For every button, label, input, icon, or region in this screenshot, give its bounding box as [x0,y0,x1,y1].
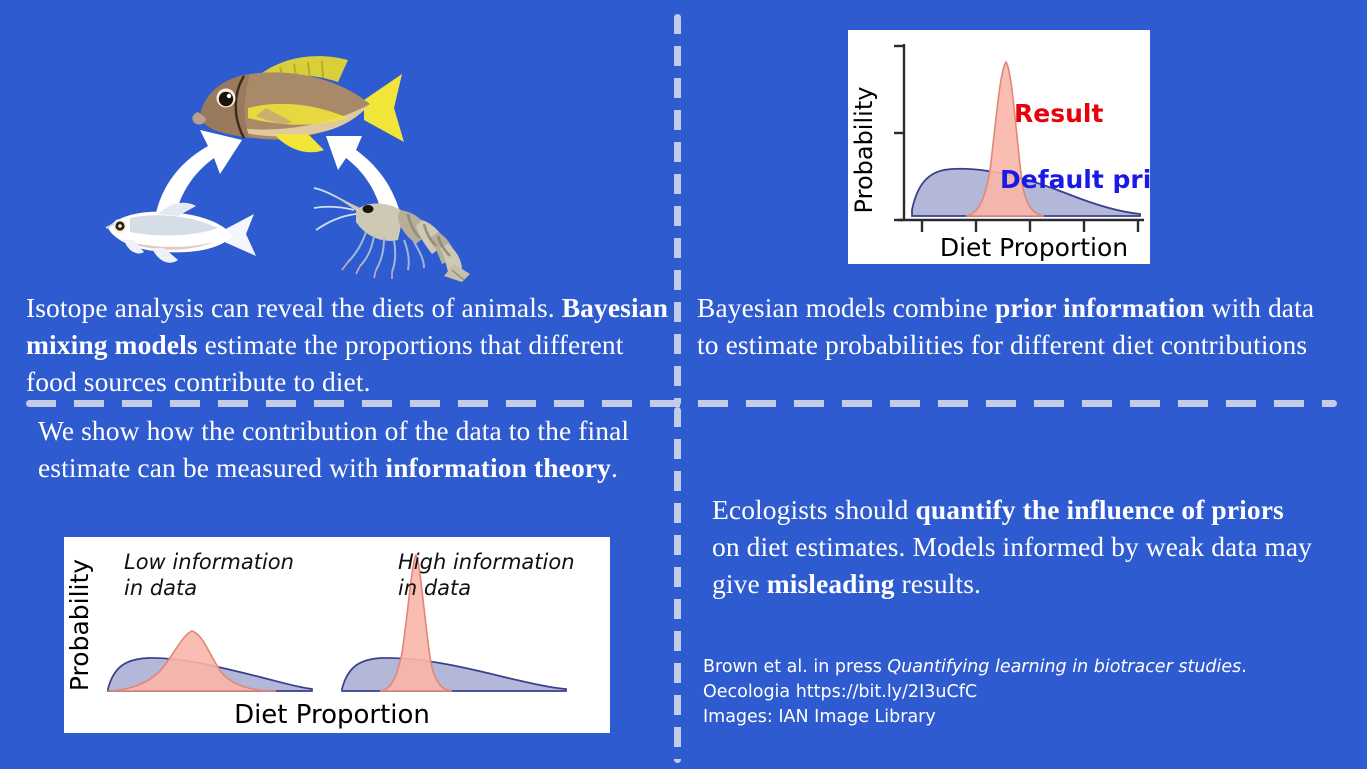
graphical-abstract: Probability Result [0,0,1367,769]
chart-y-axis-label: Probability [850,87,878,214]
chart-annotation-high-information: High information [398,550,575,574]
chart-annotation-result: Result [1014,99,1103,128]
citation-authors: Brown et al. in press [703,657,887,677]
citation-block: Brown et al. in press Quantifying learni… [703,655,1303,730]
chart-annotation-low-information: Low information [124,550,294,574]
text-run: Ecologists should [712,494,915,525]
text-run-bold: misleading [767,568,895,599]
chart-x-axis-label: Diet Proportion [234,700,430,730]
prawn-illustration [312,178,472,283]
text-run-bold: prior information [995,292,1205,323]
divider-horizontal [26,400,1337,407]
panel-text-bottom-left: We show how the contribution of the data… [38,412,673,486]
snapper-fish-illustration [188,38,418,173]
citation-images-credit: Images: IAN Image Library [703,707,936,727]
series-prior-high-info [342,658,566,691]
chart-y-axis-label: Probability [65,559,94,691]
chart-annotation-default-prior: Default prior [1000,165,1150,194]
panel-text-bottom-right: Ecologists should quantify the influence… [712,491,1312,602]
panel-text-top-left: Isotope analysis can reveal the diets of… [26,289,676,400]
text-run: Isotope analysis can reveal the diets of… [26,292,562,323]
chart-prior-vs-result: Probability Result [848,30,1150,264]
panel-text-top-right: Bayesian models combine prior informatio… [697,289,1337,363]
chart-x-axis-label: Diet Proportion [940,233,1128,262]
baitfish-illustration [100,196,260,276]
text-run: . [611,452,618,483]
chart-annotation-low-information-2: in data [124,576,197,600]
citation-title: Quantifying learning in biotracer studie… [887,657,1241,677]
divider-vertical-bottom [674,407,681,763]
text-run: results. [895,568,981,599]
chart-low-vs-high-information: Probability Low information in data High… [64,537,610,733]
chart-annotation-high-information-2: in data [398,576,471,600]
text-run-bold: quantify the influence of priors [915,494,1283,525]
text-run-bold: information theory [385,452,611,483]
text-run: Bayesian models combine [697,292,995,323]
